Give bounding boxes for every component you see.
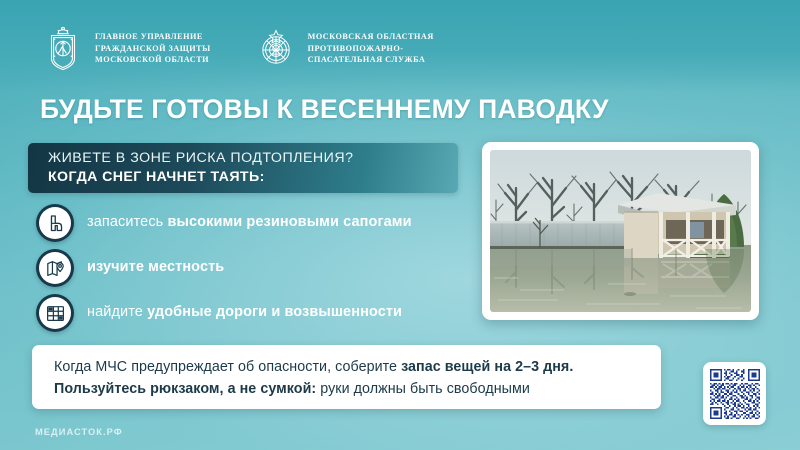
flooded-yard-photo [490,150,751,312]
tip-strong: изучите местность [87,259,224,275]
note-line-1: Когда МЧС предупреждает об опасности, со… [54,356,661,378]
list-item: запаситесь высокими резиновыми сапогами [36,204,412,242]
list-item: найдите удобные дороги и возвышенности [36,294,412,332]
map-pin-icon [36,249,74,287]
org-block-fire-rescue: МОСКОВСКАЯ ОБЛАСТНАЯ ПРОТИВОПОЖАРНО- СПА… [253,26,434,72]
org-line: ПРОТИВОПОЖАРНО- [308,44,434,55]
road-map-icon [36,294,74,332]
rubber-boot-icon [36,204,74,242]
note-line-1-lead: Когда МЧС предупреждает об опасности, со… [54,359,401,375]
header-emblems: ГЛАВНОЕ УПРАВЛЕНИЕ ГРАЖДАНСКОЙ ЗАЩИТЫ МО… [40,26,434,72]
infographic-poster: ГЛАВНОЕ УПРАВЛЕНИЕ ГРАЖДАНСКОЙ ЗАЩИТЫ МО… [0,0,800,450]
tip-strong: удобные дороги и возвышенности [147,304,402,320]
note-line-2: Пользуйтесь рюкзаком, а не сумкой: руки … [54,378,661,400]
moscow-region-coat-of-arms-icon [40,26,86,72]
list-item-label: запаситесь высокими резиновыми сапогами [87,214,412,231]
risk-question-banner: ЖИВЕТЕ В ЗОНЕ РИСКА ПОДТОПЛЕНИЯ? КОГДА С… [28,143,458,193]
org-line: ГЛАВНОЕ УПРАВЛЕНИЕ [95,32,211,43]
list-item-label: найдите удобные дороги и возвышенности [87,304,402,321]
note-line-2-strong: Пользуйтесь рюкзаком, а не сумкой: [54,381,316,397]
banner-line-1: ЖИВЕТЕ В ЗОНЕ РИСКА ПОДТОПЛЕНИЯ? [48,149,458,168]
org-name-fire-rescue: МОСКОВСКАЯ ОБЛАСТНАЯ ПРОТИВОПОЖАРНО- СПА… [308,32,434,66]
list-item: изучите местность [36,249,412,287]
preparedness-note-card: Когда МЧС предупреждает об опасности, со… [32,345,661,409]
banner-line-2: КОГДА СНЕГ НАЧНЕТ ТАЯТЬ: [48,168,458,187]
fire-rescue-service-emblem-icon [253,26,299,72]
tip-lead: запаситесь [87,214,167,230]
org-name-civil-defense: ГЛАВНОЕ УПРАВЛЕНИЕ ГРАЖДАНСКОЙ ЗАЩИТЫ МО… [95,32,211,66]
qr-code-icon[interactable] [703,362,766,425]
org-line: МОСКОВСКОЙ ОБЛАСТИ [95,55,211,66]
note-line-2-tail: руки должны быть свободными [316,381,530,397]
watermark: МЕДИАСТОК.РФ [35,427,123,437]
org-line: СПАСАТЕЛЬНАЯ СЛУЖБА [308,55,434,66]
note-line-1-strong: запас вещей на 2–3 дня. [401,359,573,375]
photo-card [482,142,759,320]
tip-lead: найдите [87,304,147,320]
org-line: МОСКОВСКАЯ ОБЛАСТНАЯ [308,32,434,43]
tip-strong: высокими резиновыми сапогами [167,214,411,230]
org-block-civil-defense: ГЛАВНОЕ УПРАВЛЕНИЕ ГРАЖДАНСКОЙ ЗАЩИТЫ МО… [40,26,211,72]
page-title: БУДЬТЕ ГОТОВЫ К ВЕСЕННЕМУ ПАВОДКУ [40,96,609,123]
org-line: ГРАЖДАНСКОЙ ЗАЩИТЫ [95,44,211,55]
tips-list: запаситесь высокими резиновыми сапогами [36,204,412,332]
list-item-label: изучите местность [87,259,224,276]
